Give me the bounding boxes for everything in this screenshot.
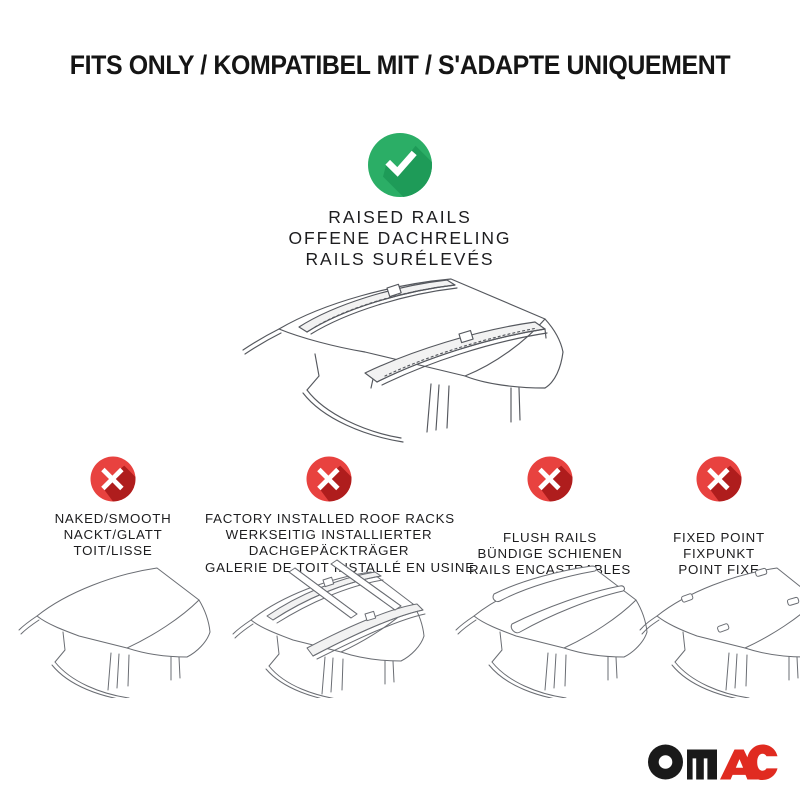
incompatible-item-naked-smooth: NAKED/SMOOTH NACKT/GLATT TOIT/LISSE — [6, 452, 220, 560]
label-en: FACTORY INSTALLED ROOF RACKS — [205, 511, 453, 527]
label-en: FLUSH RAILS — [445, 530, 655, 546]
incompatible-labels: NAKED/SMOOTH NACKT/GLATT TOIT/LISSE — [6, 511, 220, 560]
x-circle-icon — [90, 456, 136, 502]
incompatible-item-flush-rails: FLUSH RAILS BÜNDIGE SCHIENEN RAILS ENCAS… — [445, 452, 655, 579]
check-circle-icon — [367, 132, 433, 198]
x-circle-icon — [527, 456, 573, 502]
omac-logo — [646, 742, 778, 782]
compatible-section: RAISED RAILS OFFENE DACHRELING RAILS SUR… — [0, 132, 800, 270]
car-roof-fixed-point-illustration — [637, 558, 800, 698]
label-en: NAKED/SMOOTH — [6, 511, 220, 527]
car-roof-factory-racks-illustration — [205, 548, 453, 698]
compatible-label-de: OFFENE DACHRELING — [0, 228, 800, 249]
compatible-labels: RAISED RAILS OFFENE DACHRELING RAILS SUR… — [0, 207, 800, 270]
label-de: NACKT/GLATT — [6, 527, 220, 543]
car-roof-flush-rails-illustration — [445, 558, 655, 698]
incompatible-item-fixed-point: FIXED POINT FIXPUNKT POINT FIXE — [637, 452, 800, 579]
car-roof-naked-illustration — [6, 558, 220, 698]
x-circle-icon — [306, 456, 352, 502]
compatible-label-fr: RAILS SURÉLEVÉS — [0, 249, 800, 270]
page-title: FITS ONLY / KOMPATIBEL MIT / S'ADAPTE UN… — [24, 50, 776, 81]
incompatible-item-factory-roof-racks: FACTORY INSTALLED ROOF RACKS WERKSEITIG … — [205, 452, 453, 576]
label-de-1: WERKSEITIG INSTALLIERTER — [205, 527, 453, 543]
x-circle-icon — [696, 456, 742, 502]
car-roof-raised-rails-illustration — [215, 272, 595, 452]
fitment-infographic: FITS ONLY / KOMPATIBEL MIT / S'ADAPTE UN… — [0, 0, 800, 800]
incompatible-section: NAKED/SMOOTH NACKT/GLATT TOIT/LISSE — [0, 452, 800, 702]
label-en: FIXED POINT — [637, 530, 800, 546]
compatible-label-en: RAISED RAILS — [0, 207, 800, 228]
